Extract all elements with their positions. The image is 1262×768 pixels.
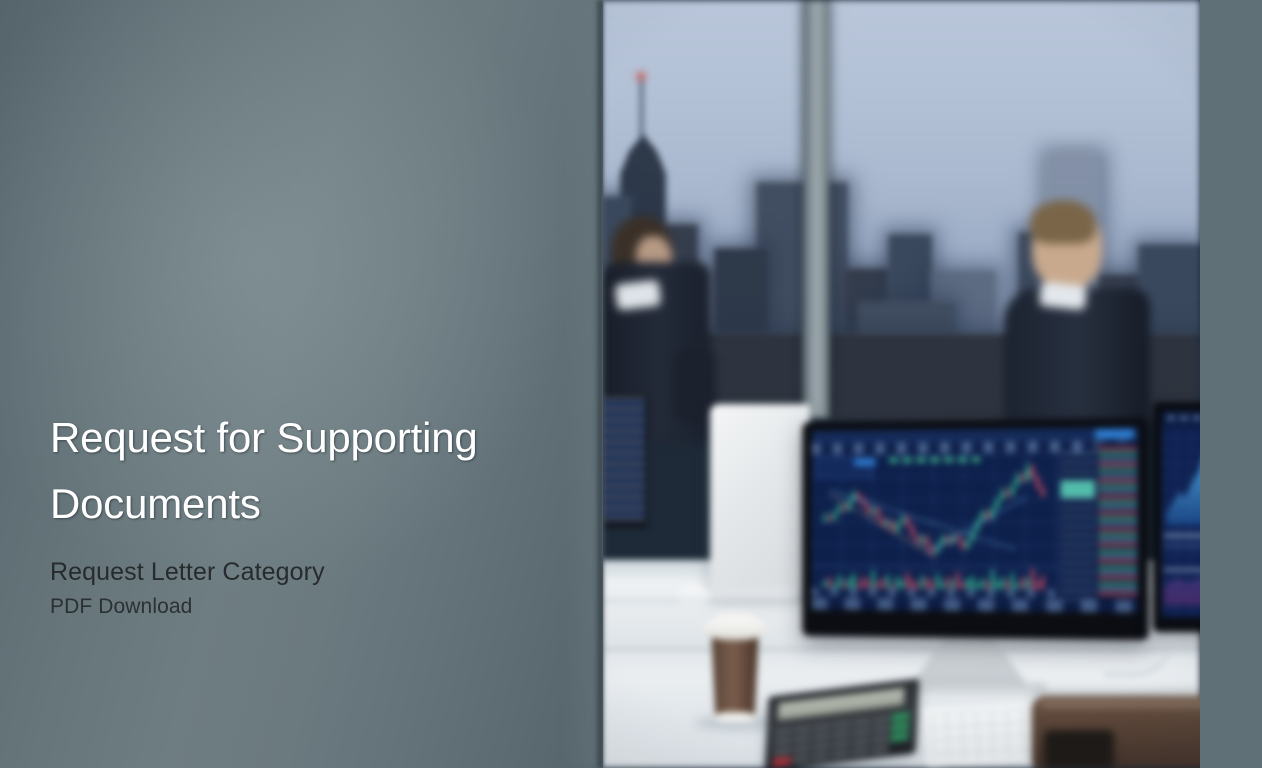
ladder-highlight: [1060, 480, 1095, 497]
imac-rear: [710, 404, 810, 594]
chair-highlight: [1040, 700, 1200, 708]
background-monitor: [598, 394, 648, 528]
volume-bars: [812, 564, 1058, 589]
imac-foot: [708, 586, 796, 600]
left-wall-panel: [0, 0, 603, 768]
wall-edge-shadow: [594, 0, 604, 768]
page-title: Request for Supporting Documents: [50, 405, 570, 537]
presentation-slide: Request for Supporting Documents Request…: [0, 0, 1262, 768]
terminal-screen: [812, 427, 1138, 613]
secondary-chart-monitor: [1153, 402, 1200, 632]
slide-text-block: Request for Supporting Documents Request…: [50, 405, 570, 623]
order-blotter: [1097, 442, 1138, 600]
chair-shadow: [1044, 730, 1114, 768]
slide-category: Request Letter Category: [50, 555, 570, 589]
paper-coffee-cup: [708, 630, 762, 720]
window-mullion: [803, 0, 829, 418]
trading-terminal-monitor: [802, 418, 1148, 640]
price-ladder: [1060, 452, 1095, 600]
office-photo: [598, 0, 1200, 768]
right-color-band: [1200, 0, 1262, 768]
cup-base: [714, 712, 756, 722]
cup-lid-top: [714, 612, 756, 624]
download-format[interactable]: PDF Download: [50, 591, 570, 623]
computer-mouse: [676, 586, 710, 604]
